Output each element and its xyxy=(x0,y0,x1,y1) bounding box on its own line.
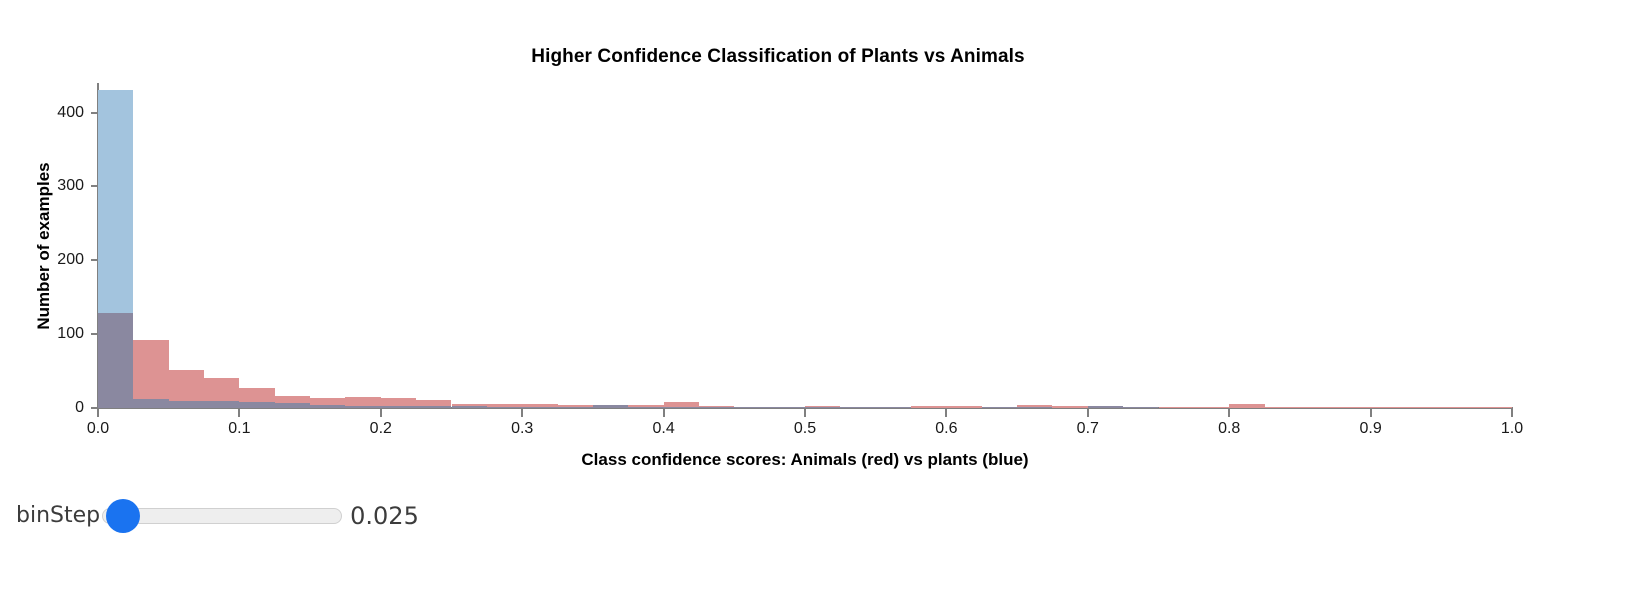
histogram-bar-overlap xyxy=(734,407,769,408)
histogram-bar xyxy=(1441,407,1476,408)
x-tick-mark xyxy=(1370,409,1372,417)
histogram-bar-overlap xyxy=(699,407,734,408)
x-tick-mark xyxy=(1511,409,1513,417)
y-axis-label: Number of examples xyxy=(34,162,54,329)
bin-step-control[interactable]: binStep 0.025 xyxy=(16,494,419,538)
bin-step-slider[interactable] xyxy=(102,505,342,527)
slider-thumb[interactable] xyxy=(106,499,140,533)
y-tick-label: 0 xyxy=(75,399,84,417)
histogram-bar xyxy=(1229,404,1264,408)
histogram-bar-overlap xyxy=(805,407,840,408)
histogram-bar xyxy=(1265,407,1300,408)
bin-step-label: binStep xyxy=(16,505,100,527)
y-tick-label: 400 xyxy=(57,104,84,122)
y-tick-label: 200 xyxy=(57,251,84,269)
histogram-bar xyxy=(1477,407,1512,408)
histogram-bar-overlap xyxy=(239,402,274,408)
histogram-bar-overlap xyxy=(310,405,345,408)
y-tick-label: 300 xyxy=(57,177,84,195)
histogram-bar-overlap xyxy=(275,403,310,408)
x-tick-label: 0.4 xyxy=(652,420,674,438)
histogram-bar-overlap xyxy=(876,407,911,408)
x-tick-mark xyxy=(1228,409,1230,417)
histogram-bar xyxy=(1300,407,1335,408)
histogram-bar xyxy=(1159,407,1194,408)
histogram-bar-overlap xyxy=(770,407,805,408)
x-tick-label: 0.6 xyxy=(935,420,957,438)
x-tick-label: 1.0 xyxy=(1501,420,1523,438)
histogram-bar-overlap xyxy=(840,407,875,408)
histogram-bar-overlap xyxy=(169,401,204,408)
x-tick-mark xyxy=(945,409,947,417)
x-tick-mark xyxy=(380,409,382,417)
x-tick-mark xyxy=(1087,409,1089,417)
histogram-bar-overlap xyxy=(593,405,628,408)
histogram-bar-overlap xyxy=(1088,406,1123,408)
y-tick-mark xyxy=(91,259,98,261)
histogram-bar-overlap xyxy=(98,313,133,408)
histogram-bar-overlap xyxy=(452,406,487,408)
x-tick-label: 0.1 xyxy=(228,420,250,438)
x-tick-label: 0.8 xyxy=(1218,420,1240,438)
histogram-bar-overlap xyxy=(204,401,239,408)
histogram-bar xyxy=(1406,407,1441,408)
x-tick-mark xyxy=(804,409,806,417)
histogram-bar xyxy=(911,406,946,408)
histogram-bar-overlap xyxy=(381,406,416,408)
x-tick-label: 0.3 xyxy=(511,420,533,438)
histogram-bar xyxy=(1371,407,1406,408)
histogram-bar xyxy=(946,406,981,408)
histogram-bar xyxy=(1335,407,1370,408)
y-tick-mark xyxy=(91,112,98,114)
x-axis-label: Class confidence scores: Animals (red) v… xyxy=(98,450,1512,470)
histogram-bar-overlap xyxy=(522,407,557,408)
y-tick-label: 100 xyxy=(57,325,84,343)
histogram-bar-overlap xyxy=(558,407,593,408)
histogram-bar-overlap xyxy=(628,407,663,408)
histogram-bar xyxy=(1052,406,1087,408)
histogram-bar-overlap xyxy=(664,407,699,408)
bin-step-value: 0.025 xyxy=(350,504,419,528)
y-tick-mark xyxy=(91,185,98,187)
histogram-bar-overlap xyxy=(133,399,168,408)
chart-page: Higher Confidence Classification of Plan… xyxy=(0,0,1646,600)
x-tick-label: 0.9 xyxy=(1359,420,1381,438)
histogram-bar-overlap xyxy=(1123,407,1158,408)
y-tick-mark xyxy=(91,333,98,335)
x-tick-mark xyxy=(97,409,99,417)
histogram-bar-overlap xyxy=(487,407,522,408)
x-tick-label: 0.2 xyxy=(370,420,392,438)
chart-title: Higher Confidence Classification of Plan… xyxy=(0,46,1556,68)
histogram-bar-overlap xyxy=(1017,407,1052,408)
x-tick-label: 0.0 xyxy=(87,420,109,438)
x-tick-mark xyxy=(521,409,523,417)
x-tick-mark xyxy=(663,409,665,417)
histogram-bar-overlap xyxy=(345,406,380,408)
histogram-bar xyxy=(133,340,168,408)
x-tick-mark xyxy=(238,409,240,417)
x-tick-label: 0.5 xyxy=(794,420,816,438)
y-axis-label-wrap: Number of examples xyxy=(44,83,45,408)
histogram-bar-overlap xyxy=(982,407,1017,408)
x-tick-label: 0.7 xyxy=(1077,420,1099,438)
histogram-bar-overlap xyxy=(416,406,451,408)
plot-area xyxy=(98,83,1512,408)
histogram-bar xyxy=(1194,407,1229,408)
